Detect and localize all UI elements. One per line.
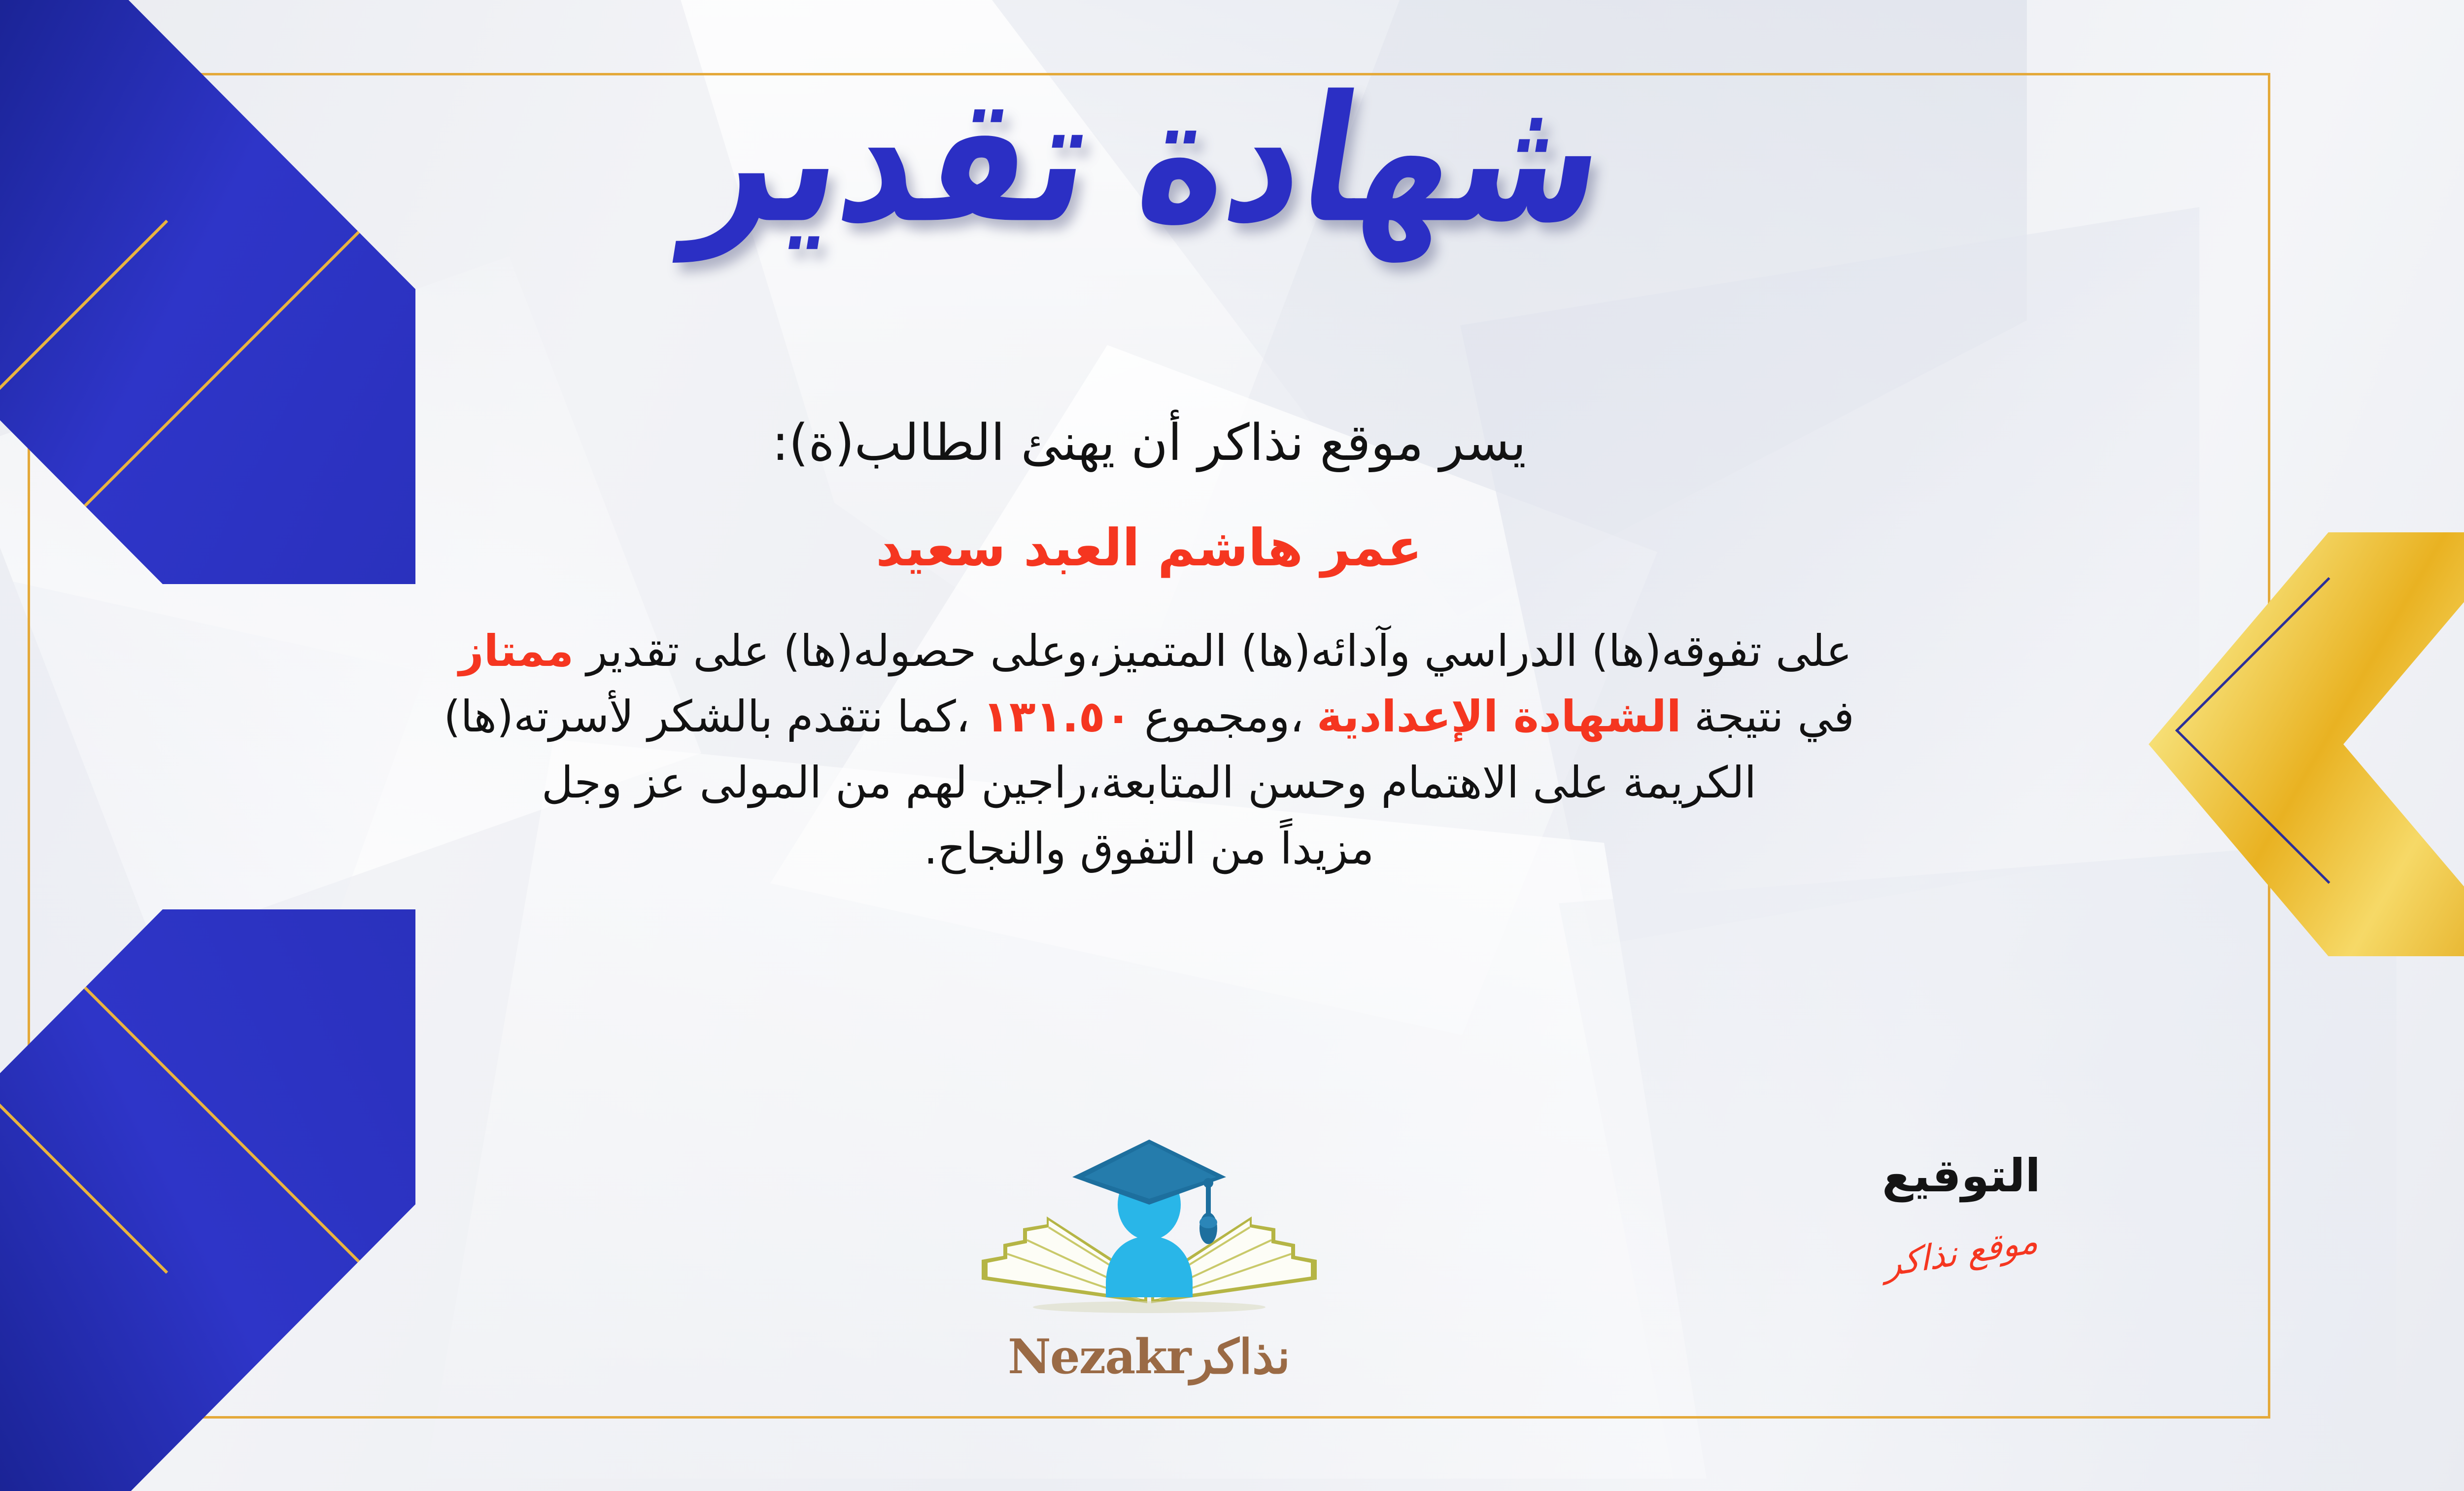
citation-line-2-suffix: ،كما نتقدم بالشكر لأسرته(ها): [444, 691, 970, 742]
citation-line-4: مزيداً من التفوق والنجاح.: [61, 816, 2237, 882]
citation-line-3: الكريمة على الاهتمام وحسن المتابعة،راجين…: [61, 750, 2237, 816]
logo-arabic-text: نذاكر: [1191, 1329, 1290, 1385]
citation-line-1-text: على تفوقه(ها) الدراسي وآدائه(ها) المتميز…: [586, 625, 1852, 676]
signature-label: التوقيع: [1833, 1153, 2089, 1199]
citation-paragraph: على تفوقه(ها) الدراسي وآدائه(ها) المتميز…: [61, 618, 2237, 882]
site-logo: نذاكرNezakr: [962, 1134, 1336, 1385]
logo-latin-text: Nezakr: [1008, 1329, 1191, 1385]
student-name: عمر هاشم العبد سعيد: [61, 516, 2237, 580]
blue-chevron-gold-lines: [0, 909, 415, 1491]
citation-line-2-mid: ،ومجموع: [1144, 691, 1304, 742]
exam-name-value: الشهادة الإعدادية: [1304, 691, 1694, 742]
certificate-page: شهادة تقدير يسر موقع نذاكر أن يهنئ الطال…: [0, 0, 2464, 1491]
certificate-body: يسر موقع نذاكر أن يهنئ الطالب(ة): عمر ها…: [61, 409, 2237, 882]
logo-wordmark: نذاكرNezakr: [962, 1329, 1336, 1385]
grade-value: ممتاز: [446, 625, 586, 676]
certificate-title-area: شهادة تقدير: [0, 86, 2464, 234]
total-score-value: ١٣١.٥٠: [970, 691, 1144, 742]
signature-block: التوقيع موقع نذاكر: [1833, 1153, 2089, 1270]
graduate-book-logo-icon: [962, 1134, 1336, 1331]
page-title: شهادة تقدير: [681, 73, 1616, 247]
citation-line-2: في نتيجةالشهادة الإعدادية،ومجموع١٣١.٥٠،ك…: [61, 684, 2237, 750]
corner-ornament-bottom-left: [0, 909, 415, 1491]
citation-line-1: على تفوقه(ها) الدراسي وآدائه(ها) المتميز…: [61, 618, 2237, 684]
citation-line-2-prefix: في نتيجة: [1694, 691, 1854, 742]
greeting-text: يسر موقع نذاكر أن يهنئ الطالب(ة):: [61, 409, 2237, 477]
